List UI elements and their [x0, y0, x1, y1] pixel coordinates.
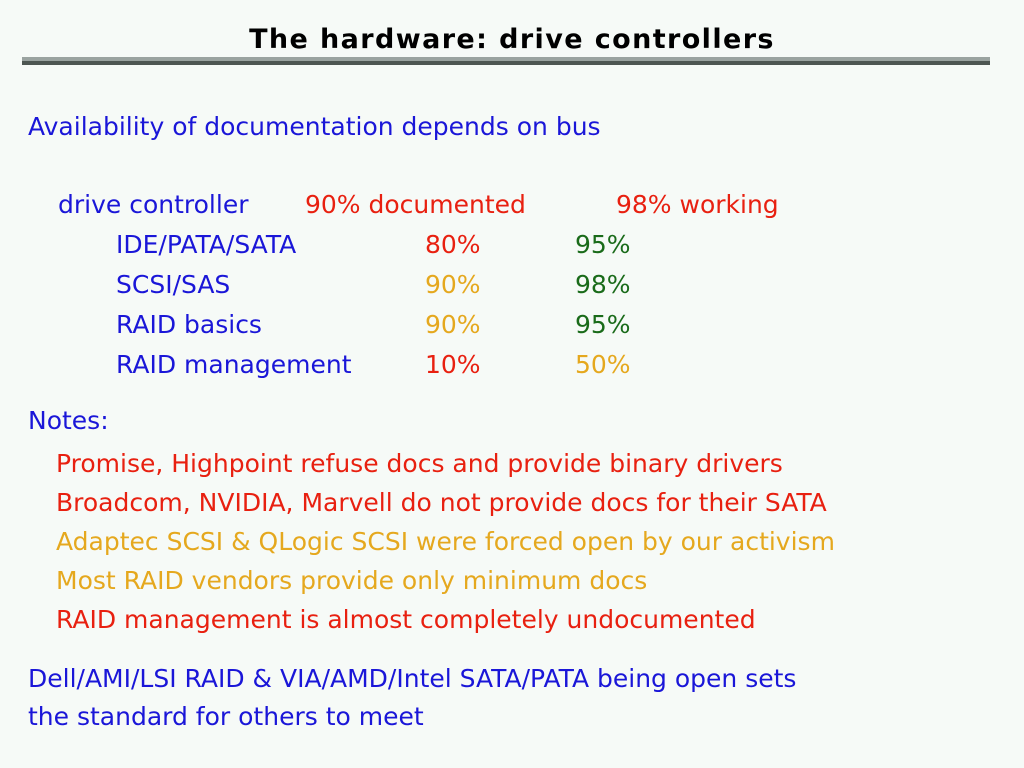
note-item: Promise, Highpoint refuse docs and provi…	[56, 444, 1016, 483]
page-title: The hardware: drive controllers	[0, 24, 1024, 55]
closing-paragraph: Dell/AMI/LSI RAID & VIA/AMD/Intel SATA/P…	[28, 660, 988, 736]
table-header-documented: 90% documented	[305, 190, 526, 219]
intro-line: Availability of documentation depends on…	[28, 112, 601, 141]
note-item: Most RAID vendors provide only minimum d…	[56, 561, 1016, 600]
row-documented-value: 90%	[425, 270, 481, 299]
table-row: IDE/PATA/SATA 80% 95%	[0, 230, 1024, 270]
row-label: RAID basics	[116, 310, 262, 339]
row-label: RAID management	[116, 350, 352, 379]
row-documented-value: 90%	[425, 310, 481, 339]
title-divider	[22, 57, 990, 65]
divider-bottom-line	[22, 61, 990, 65]
note-item: Broadcom, NVIDIA, Marvell do not provide…	[56, 483, 1016, 522]
row-working-value: 50%	[575, 350, 631, 379]
note-item: RAID management is almost completely und…	[56, 600, 1016, 639]
row-documented-value: 80%	[425, 230, 481, 259]
note-item: Adaptec SCSI & QLogic SCSI were forced o…	[56, 522, 1016, 561]
row-working-value: 98%	[575, 270, 631, 299]
table-row: RAID management 10% 50%	[0, 350, 1024, 390]
notes-title: Notes:	[28, 406, 109, 435]
row-label: SCSI/SAS	[116, 270, 230, 299]
table-header-row: drive controller 90% documented 98% work…	[0, 190, 1024, 230]
availability-table: drive controller 90% documented 98% work…	[0, 190, 1024, 390]
table-row: SCSI/SAS 90% 98%	[0, 270, 1024, 310]
row-documented-value: 10%	[425, 350, 481, 379]
notes-list: Promise, Highpoint refuse docs and provi…	[56, 444, 1016, 639]
table-header-label: drive controller	[58, 190, 248, 219]
slide-canvas: The hardware: drive controllers Availabi…	[0, 0, 1024, 768]
table-header-working: 98% working	[616, 190, 779, 219]
row-working-value: 95%	[575, 310, 631, 339]
closing-line-2: the standard for others to meet	[28, 698, 988, 736]
row-label: IDE/PATA/SATA	[116, 230, 296, 259]
row-working-value: 95%	[575, 230, 631, 259]
closing-line-1: Dell/AMI/LSI RAID & VIA/AMD/Intel SATA/P…	[28, 660, 988, 698]
table-row: RAID basics 90% 95%	[0, 310, 1024, 350]
